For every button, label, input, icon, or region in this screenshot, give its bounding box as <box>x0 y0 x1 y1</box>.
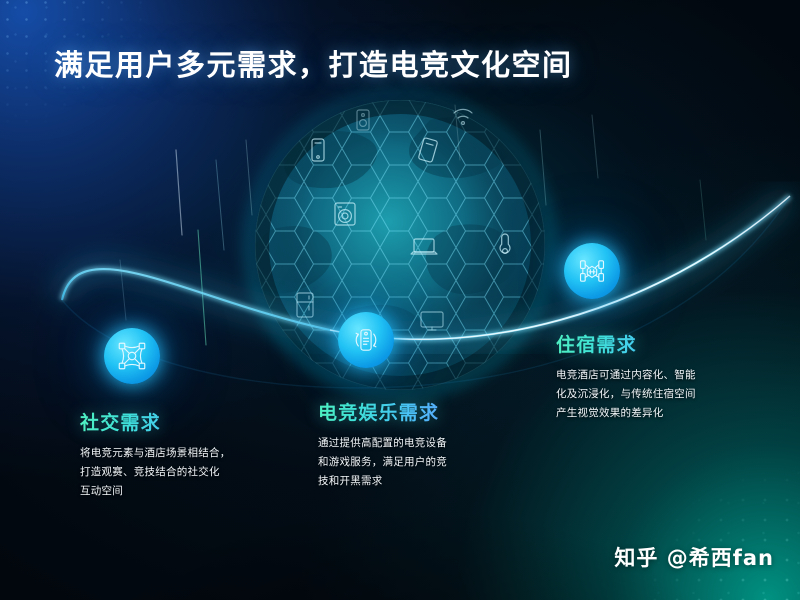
page-title: 满足用户多元需求，打造电竞文化空间 <box>54 42 573 84</box>
phone-hex-icon <box>312 139 324 161</box>
block-lodging: 住宿需求 电竞酒店可通过内容化、智能 化及沉浸化，与传统住宿空间 产生视觉效果的… <box>556 330 696 423</box>
wifi-hex-icon <box>454 109 472 124</box>
slide-canvas: 满足用户多元需求，打造电竞文化空间 <box>0 0 800 600</box>
social-network-icon <box>115 339 149 373</box>
laptop-hex-icon <box>411 239 437 254</box>
block-gaming-line-1: 通过提供高配置的电竞设备 <box>318 434 447 453</box>
node-social[interactable] <box>104 328 160 384</box>
block-gaming: 电竞娱乐需求 通过提供高配置的电竞设备 和游戏服务，满足用户的竞 技和开黑需求 <box>318 398 447 491</box>
block-gaming-body: 通过提供高配置的电竞设备 和游戏服务，满足用户的竞 技和开黑需求 <box>318 434 447 491</box>
block-social-body: 将电竞元素与酒店场景相结合， 打造观赛、竞技结合的社交化 互动空间 <box>80 444 231 501</box>
speaker-hex-icon <box>357 110 369 130</box>
background-graphic <box>0 0 800 600</box>
bokeh-dots-top-left <box>0 0 300 260</box>
block-lodging-line-3: 产生视觉效果的差异化 <box>556 404 696 423</box>
smart-building-icon <box>575 254 609 288</box>
node-lodging[interactable] <box>564 243 620 299</box>
tv-hex-icon <box>421 312 443 330</box>
hex-globe <box>240 87 560 403</box>
block-social-line-1: 将电竞元素与酒店场景相结合， <box>80 444 231 463</box>
vignette-overlay <box>0 0 800 600</box>
fridge-hex-icon <box>297 293 313 317</box>
node-gaming[interactable] <box>338 312 394 368</box>
block-gaming-line-2: 和游戏服务，满足用户的竞 <box>318 453 447 472</box>
block-social: 社交需求 将电竞元素与酒店场景相结合， 打造观赛、竞技结合的社交化 互动空间 <box>80 408 231 501</box>
block-lodging-body: 电竞酒店可通过内容化、智能 化及沉浸化，与传统住宿空间 产生视觉效果的差异化 <box>556 366 696 423</box>
block-lodging-line-2: 化及沉浸化，与传统住宿空间 <box>556 385 696 404</box>
block-lodging-line-1: 电竞酒店可通过内容化、智能 <box>556 366 696 385</box>
thermometer-hex-icon <box>500 234 510 253</box>
block-lodging-heading: 住宿需求 <box>556 330 696 357</box>
light-streaks <box>120 105 706 345</box>
block-social-line-3: 互动空间 <box>80 482 231 501</box>
watermark: 知乎 @希西fan <box>614 542 774 572</box>
block-social-heading: 社交需求 <box>80 408 231 435</box>
game-controller-cycle-icon <box>349 323 383 357</box>
washer-hex-icon <box>335 203 355 225</box>
tablet-hex-icon <box>418 137 438 162</box>
block-gaming-line-3: 技和开黑需求 <box>318 472 447 491</box>
block-gaming-heading: 电竞娱乐需求 <box>318 398 447 425</box>
block-social-line-2: 打造观赛、竞技结合的社交化 <box>80 463 231 482</box>
